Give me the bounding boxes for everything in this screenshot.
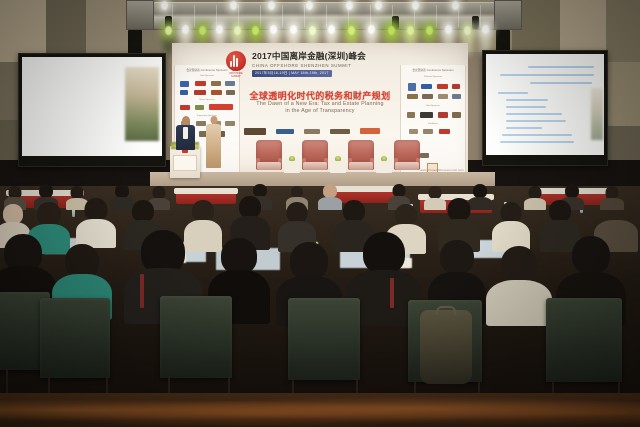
lanyard [140, 274, 144, 308]
sponsor-logo [225, 121, 235, 126]
stage-lamp [270, 25, 277, 34]
stage-lamp [199, 26, 206, 35]
stage-lamp [234, 26, 241, 35]
speaker-at-podium [176, 116, 195, 150]
stage-lamp [216, 25, 223, 34]
ballroom-carpet [0, 393, 640, 427]
sponsor-logo [211, 81, 221, 86]
sponsor-logo [196, 121, 206, 126]
stage-lamp [230, 1, 237, 10]
china-offshore-summit-logo: CHINA OFFSHORE SUMMIT [224, 51, 248, 78]
stage-lamp [268, 1, 275, 10]
sponsor-logo [180, 81, 189, 87]
stage-lamp [388, 26, 395, 35]
stage-lamp [182, 25, 189, 34]
audience-member [492, 202, 530, 252]
truss-end-box-left [126, 0, 154, 30]
stage-armchair [256, 140, 282, 174]
stage-lamp [252, 26, 259, 35]
stage-lamp [482, 25, 489, 34]
stage-lamp [161, 1, 168, 10]
stage-lamp [348, 26, 355, 35]
stage-lamp [375, 1, 382, 10]
sponsor-panel-right-heading: 会议赞助商 Conference Sponsors [401, 68, 465, 72]
sponsor-logo [439, 129, 450, 134]
stage-lamp [368, 25, 375, 34]
stage-lamp [426, 26, 433, 35]
foreground-chair [408, 300, 482, 382]
stage-lamp [445, 25, 452, 34]
podium [170, 146, 200, 178]
logo-subtext-line1: CHINA [232, 70, 240, 72]
slide-photo [591, 88, 603, 140]
sponsor-tier-label: Exhibitors [401, 123, 465, 125]
stage-lamp [464, 26, 471, 35]
stage-armchair [302, 140, 328, 174]
event-headline-english: The Dawn of a New Era: Tax and Estate Pl… [172, 101, 468, 115]
event-date-bar: 2017年5月18-19日 | MAY 18th-19th, 2017 [252, 70, 332, 77]
sponsor-tier-label: Platinum Sponsors [401, 76, 465, 78]
foreground-chair [40, 298, 110, 378]
backpack [420, 310, 472, 384]
audience-area [0, 186, 640, 427]
headline-english-line2: in the Age of Transparency [285, 108, 354, 114]
backdrop-sponsor-row [244, 127, 396, 137]
event-title-english: CHINA OFFSHORE SHENZHEN SUMMIT [252, 63, 351, 68]
foreground-chair [288, 298, 360, 380]
right-projection-screen [482, 50, 608, 166]
logo-subtext-line2: OFFSHORE [229, 73, 243, 75]
sponsor-logo [195, 81, 206, 86]
slide-photo [125, 67, 159, 141]
sponsor-logo [409, 129, 418, 134]
stage-side-table [330, 160, 346, 173]
foreground-chair [546, 298, 622, 382]
audience-member [486, 246, 552, 326]
stage-lamp [346, 1, 353, 10]
sponsor-logo [225, 81, 235, 86]
stage-lamp [165, 26, 172, 35]
wall-panel [606, 0, 640, 62]
stage-armchair [348, 140, 374, 174]
logo-subtext-line3: SUMMIT [231, 76, 241, 78]
event-title-chinese: 2017中国离岸金融(深圳)峰会 [252, 52, 366, 61]
stage-lamp [452, 1, 459, 10]
stage-lamp [328, 25, 335, 34]
logo-subtext: CHINA OFFSHORE SUMMIT [224, 70, 248, 78]
stage-lamp [306, 1, 313, 10]
lanyard [390, 278, 394, 308]
stage-side-table [376, 160, 392, 173]
podium-name-plate [173, 155, 197, 171]
light-fixture [472, 16, 479, 29]
left-projection-screen [18, 53, 166, 167]
sponsor-logo [420, 153, 429, 158]
headline-english-line1: The Dawn of a New Era: Tax and Estate Pl… [256, 101, 383, 107]
conference-photo: 会议赞助商 Conference Sponsors Gold Sponsors … [0, 0, 640, 427]
sponsor-logo [423, 129, 433, 134]
foreground-chair [160, 296, 232, 378]
audience-member [76, 198, 116, 248]
stage-lamp [407, 26, 414, 35]
stage-lamp [412, 1, 419, 10]
stage-armchair [394, 140, 420, 174]
stage-side-table [284, 160, 300, 173]
stage-lamp [309, 26, 316, 35]
logo-disc [226, 51, 246, 71]
stage-lamp [290, 25, 297, 34]
truss-end-box-right [494, 0, 522, 30]
backpack-handle [436, 306, 456, 315]
host-on-stage [206, 116, 221, 168]
